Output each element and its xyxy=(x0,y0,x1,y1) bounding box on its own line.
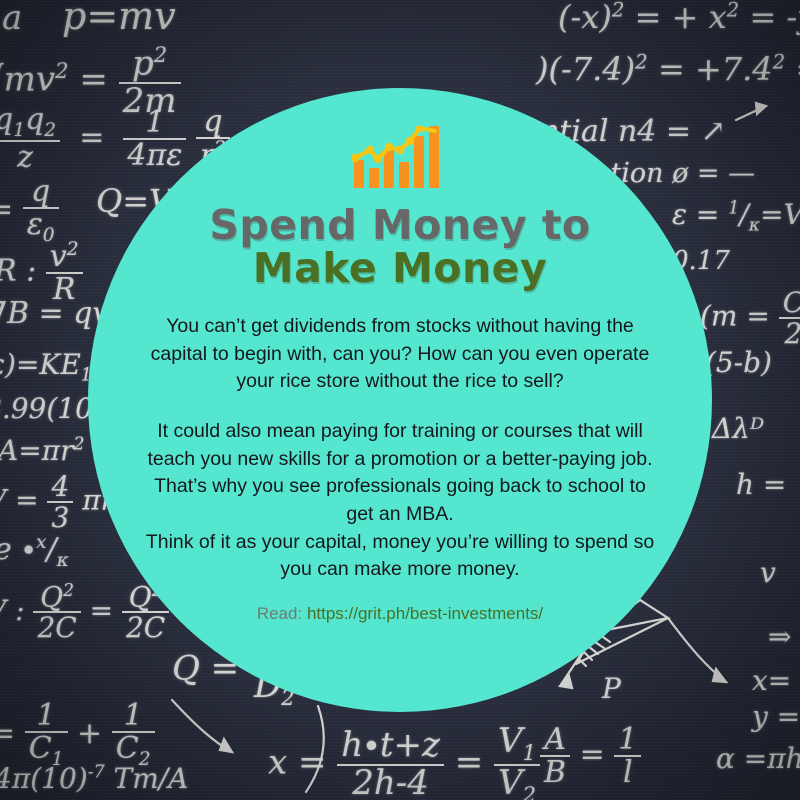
poster-content: Spend Money to Make Money You can’t get … xyxy=(0,0,800,800)
body-paragraph-1: You can’t get dividends from stocks with… xyxy=(144,313,656,396)
body-paragraph-2: It could also mean paying for training o… xyxy=(144,418,656,529)
title-line-2: Make Money xyxy=(209,247,590,290)
title-line-1: Spend Money to xyxy=(209,204,590,247)
body-paragraph-3: Think of it as your capital, money you’r… xyxy=(144,529,656,584)
page-title: Spend Money to Make Money xyxy=(209,204,590,291)
read-label: Read: xyxy=(257,604,302,623)
body-copy: You can’t get dividends from stocks with… xyxy=(144,313,656,584)
poster-canvas: a p=mv ∛mv2 = p22m q1q2z = 14πε qr2 = qε… xyxy=(0,0,800,800)
growth-bar-chart-icon xyxy=(352,126,448,188)
read-url-link[interactable]: https://grit.ph/best-investments/ xyxy=(307,604,543,623)
read-more-line: Read: https://grit.ph/best-investments/ xyxy=(257,604,543,624)
